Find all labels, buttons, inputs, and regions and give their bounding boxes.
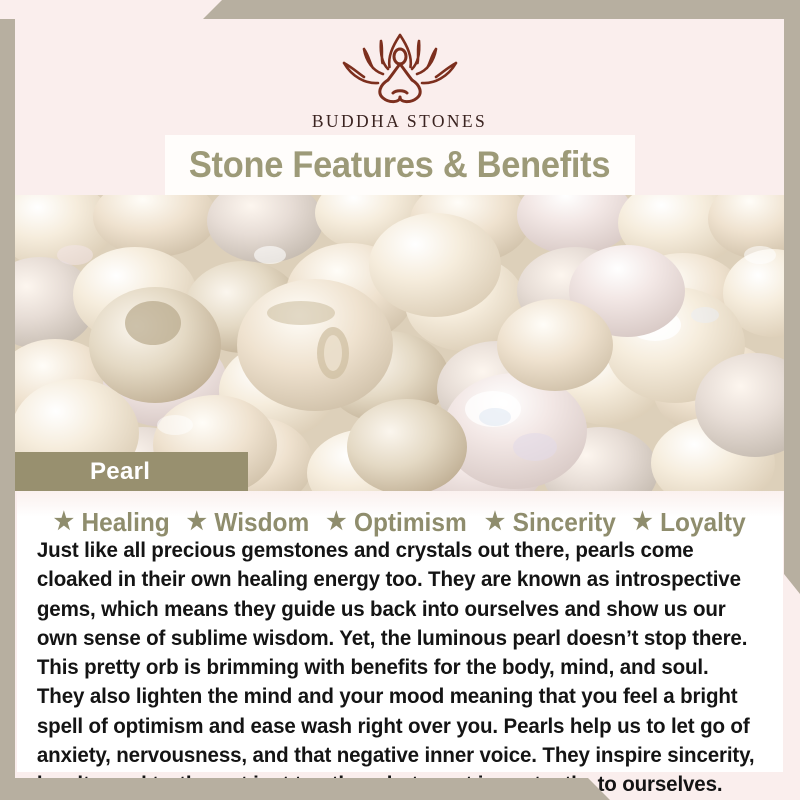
top-decorative-band xyxy=(0,0,800,19)
page-title: Stone Features & Benefits xyxy=(189,144,610,186)
star-icon: ★ xyxy=(326,510,346,534)
benefit-item: ★ Wisdom xyxy=(178,507,309,538)
title-banner: Stone Features & Benefits xyxy=(165,135,635,195)
pearl-photo xyxy=(15,195,784,491)
brand-name: BUDDHA STONES xyxy=(312,111,487,132)
benefits-list: ★ Healing ★ Wisdom ★ Optimism ★ Sincerit… xyxy=(35,491,765,533)
pearl-photo-image xyxy=(15,195,784,491)
benefit-label: Wisdom xyxy=(214,507,309,538)
star-icon: ★ xyxy=(54,510,74,534)
lotus-meditation-icon xyxy=(326,27,474,107)
brand-logo: BUDDHA STONES xyxy=(15,27,784,132)
benefit-label: Sincerity xyxy=(512,507,615,538)
star-icon: ★ xyxy=(632,510,652,534)
benefit-label: Healing xyxy=(82,507,170,538)
benefit-item: ★ Sincerity xyxy=(476,507,615,538)
left-decorative-strip xyxy=(0,19,15,781)
stone-name-text: Pearl xyxy=(90,458,150,486)
benefit-label: Loyalty xyxy=(660,507,746,538)
benefit-item: ★ Optimism xyxy=(318,507,467,538)
star-icon: ★ xyxy=(186,510,206,534)
description-text: Just like all precious gemstones and cry… xyxy=(35,536,760,800)
right-decorative-strip xyxy=(784,19,800,594)
benefit-item: ★ Loyalty xyxy=(624,507,746,538)
content-panel: ★ Healing ★ Wisdom ★ Optimism ★ Sincerit… xyxy=(17,491,783,772)
benefit-label: Optimism xyxy=(354,507,467,538)
benefit-item: ★ Healing xyxy=(54,507,170,538)
star-icon: ★ xyxy=(485,510,505,534)
stone-name-label: Pearl xyxy=(0,452,248,491)
